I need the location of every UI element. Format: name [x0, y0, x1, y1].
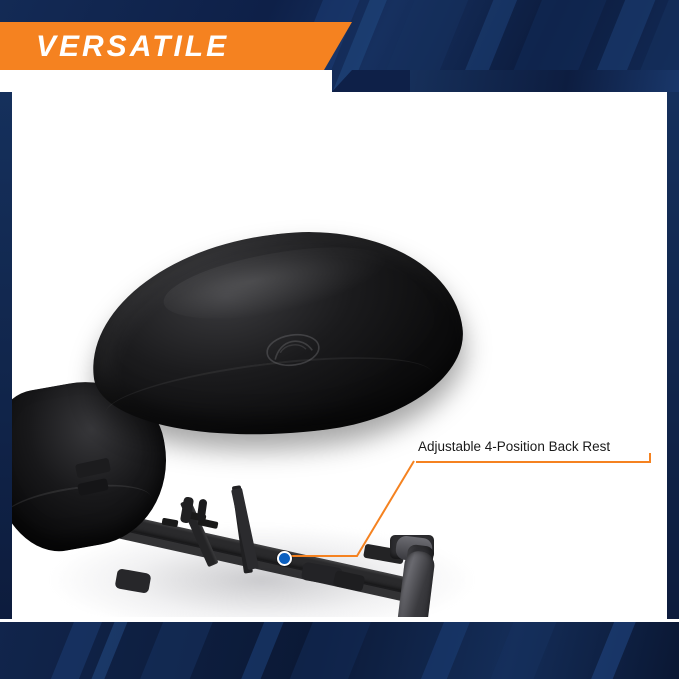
- bottom-banner: [0, 619, 679, 679]
- callout-underline-endcap: [649, 453, 651, 463]
- product-photo: Adjustable 4-Position Back Rest: [12, 95, 667, 617]
- left-side-rail: [0, 92, 12, 620]
- banner-lower-blue-band: [398, 70, 679, 92]
- product-feature-image: VERSATILE: [0, 0, 679, 679]
- callout-underline: [416, 461, 651, 463]
- frame-main-rail-shadow: [103, 525, 418, 604]
- top-banner: VERSATILE: [0, 0, 679, 92]
- callout-label: Adjustable 4-Position Back Rest: [418, 439, 610, 454]
- banner-white-band: [0, 70, 332, 92]
- footer-top-divider: [0, 619, 679, 622]
- frame-front-foot: [115, 568, 152, 594]
- banner-title: VERSATILE: [36, 30, 229, 64]
- marcy-logo-emboss-icon: [261, 323, 325, 377]
- callout-marker-dot: [277, 551, 292, 566]
- right-side-rail: [667, 92, 679, 620]
